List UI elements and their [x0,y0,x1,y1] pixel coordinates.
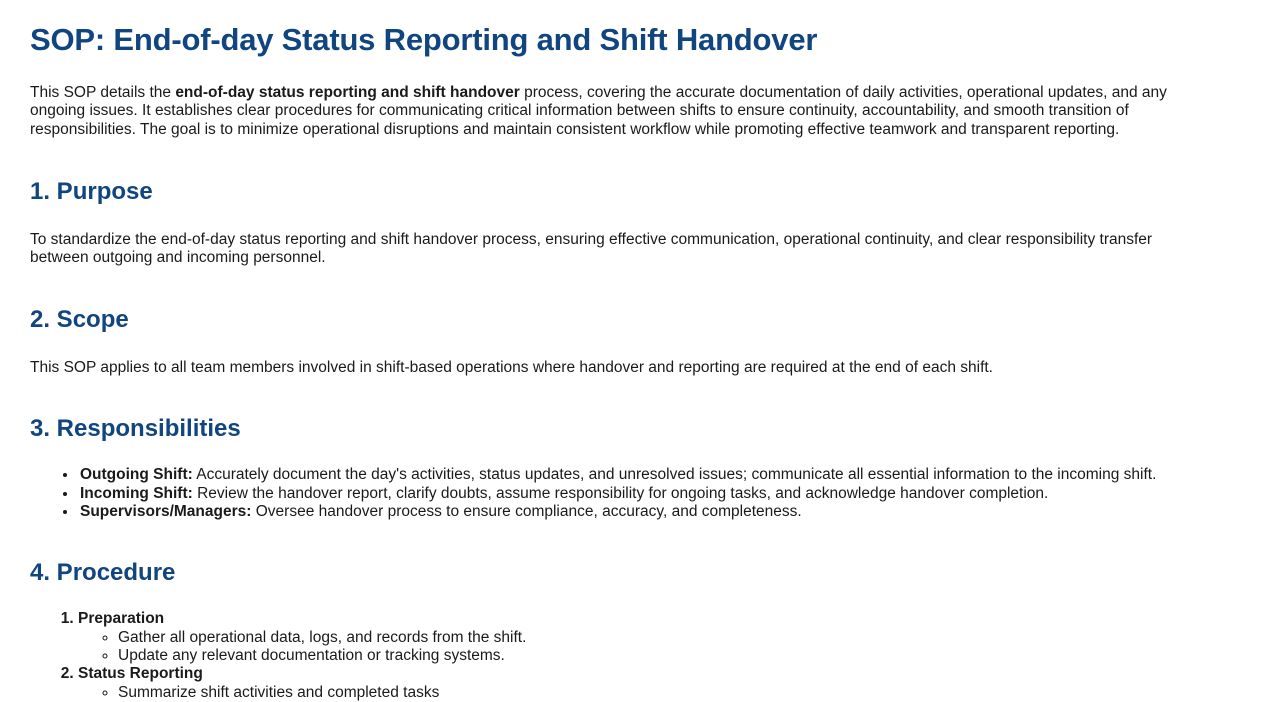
scope-body: This SOP applies to all team members inv… [30,359,1202,378]
list-item: Supervisors/Managers: Oversee handover p… [78,503,1233,521]
responsibility-text: Oversee handover process to ensure compl… [251,503,801,520]
purpose-body: To standardize the end-of-day status rep… [30,231,1202,268]
responsibility-role: Outgoing Shift: [80,466,193,483]
section-heading-scope: 2. Scope [30,306,1233,335]
list-item: Gather all operational data, logs, and r… [118,629,1233,647]
document-page: SOP: End-of-day Status Reporting and Shi… [0,0,1263,702]
responsibility-text: Review the handover report, clarify doub… [193,485,1049,502]
responsibilities-list: Outgoing Shift: Accurately document the … [30,466,1233,521]
section-heading-procedure: 4. Procedure [30,559,1233,588]
procedure-list: Preparation Gather all operational data,… [30,610,1233,702]
responsibility-text: Accurately document the day's activities… [193,466,1157,483]
intro-bold-phrase: end-of-day status reporting and shift ha… [175,84,519,101]
list-item: Incoming Shift: Review the handover repo… [78,485,1233,503]
list-item: Status Reporting Summarize shift activit… [78,665,1233,702]
procedure-substep-list: Gather all operational data, logs, and r… [78,629,1233,666]
procedure-substep-list: Summarize shift activities and completed… [78,684,1233,702]
list-item: Outgoing Shift: Accurately document the … [78,466,1233,484]
procedure-step-label: Preparation [78,610,164,627]
list-item: Update any relevant documentation or tra… [118,647,1233,665]
section-heading-purpose: 1. Purpose [30,178,1233,207]
intro-lead: This SOP details the [30,84,175,101]
list-item: Summarize shift activities and completed… [118,684,1233,702]
section-heading-responsibilities: 3. Responsibilities [30,415,1233,444]
responsibility-role: Incoming Shift: [80,485,193,502]
responsibility-role: Supervisors/Managers: [80,503,251,520]
procedure-step-label: Status Reporting [78,665,203,682]
page-title: SOP: End-of-day Status Reporting and Shi… [30,22,1233,58]
intro-paragraph: This SOP details the end-of-day status r… [30,84,1208,140]
list-item: Preparation Gather all operational data,… [78,610,1233,665]
